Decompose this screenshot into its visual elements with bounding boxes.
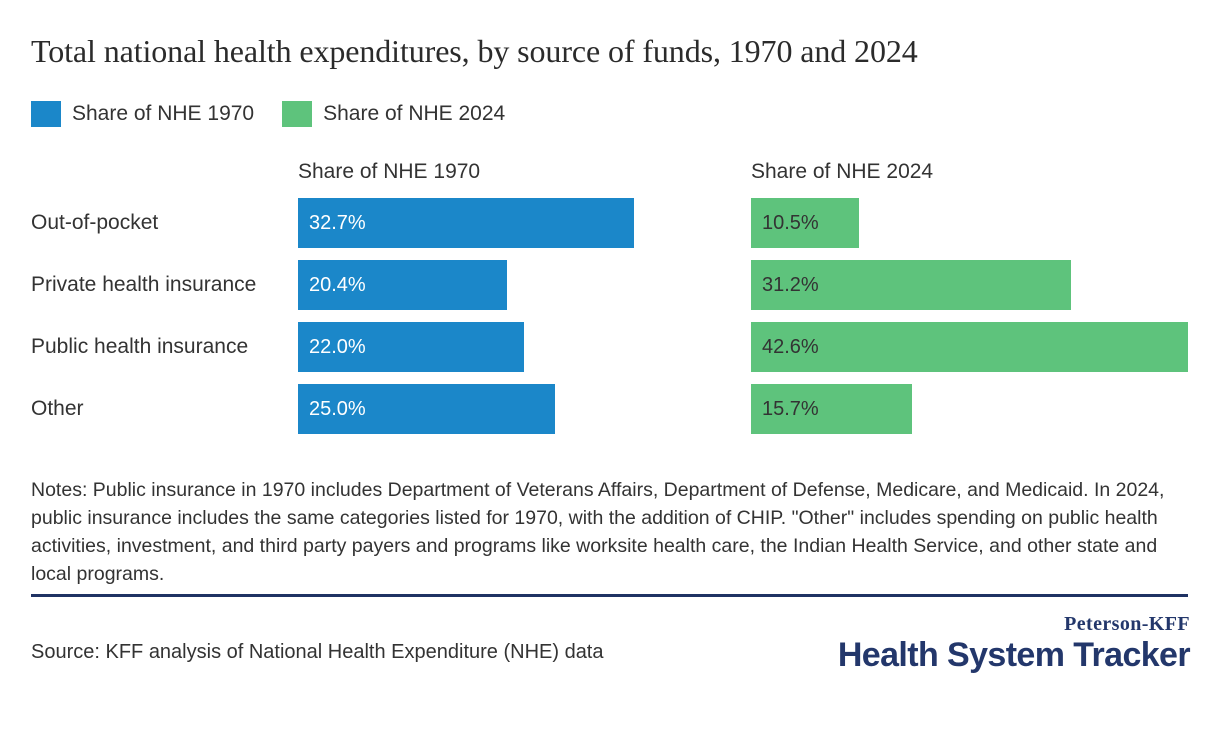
legend-item-2024[interactable]: Share of NHE 2024 xyxy=(282,101,505,127)
bar-2024[interactable]: 10.5% xyxy=(751,198,859,248)
column-header-2024: Share of NHE 2024 xyxy=(751,160,933,184)
row-label: Other xyxy=(0,397,268,421)
bar-value-1970: 22.0% xyxy=(298,336,366,359)
logo-peterson-kff: Peterson-KFF xyxy=(838,613,1190,635)
bar-2024[interactable]: 31.2% xyxy=(751,260,1071,310)
bar-1970[interactable]: 20.4% xyxy=(298,260,507,310)
page-title: Total national health expenditures, by s… xyxy=(31,33,1191,70)
row-label: Public health insurance xyxy=(0,335,268,359)
bar-value-2024: 31.2% xyxy=(751,274,819,297)
bar-rows: Out-of-pocket 32.7% 10.5% Private health… xyxy=(0,198,1220,446)
legend-swatch-1970 xyxy=(31,101,61,127)
bar-value-1970: 20.4% xyxy=(298,274,366,297)
row-label: Private health insurance xyxy=(0,273,268,297)
bar-value-1970: 32.7% xyxy=(298,212,366,235)
logo-health-system-tracker: Health System Tracker xyxy=(838,636,1190,674)
column-header-1970: Share of NHE 1970 xyxy=(298,160,480,184)
table-row: Private health insurance 20.4% 31.2% xyxy=(0,260,1220,310)
chart-source: Source: KFF analysis of National Health … xyxy=(31,641,604,664)
bar-1970[interactable]: 32.7% xyxy=(298,198,634,248)
legend-item-1970[interactable]: Share of NHE 1970 xyxy=(31,101,254,127)
table-row: Other 25.0% 15.7% xyxy=(0,384,1220,434)
bar-1970[interactable]: 25.0% xyxy=(298,384,555,434)
legend: Share of NHE 1970 Share of NHE 2024 xyxy=(31,101,533,127)
bar-value-1970: 25.0% xyxy=(298,398,366,421)
legend-label-1970: Share of NHE 1970 xyxy=(72,102,254,126)
legend-label-2024: Share of NHE 2024 xyxy=(323,102,505,126)
chart-page: Total national health expenditures, by s… xyxy=(0,0,1220,738)
footer-divider xyxy=(31,594,1188,597)
legend-swatch-2024 xyxy=(282,101,312,127)
row-label: Out-of-pocket xyxy=(0,211,268,235)
bar-1970[interactable]: 22.0% xyxy=(298,322,524,372)
chart-notes: Notes: Public insurance in 1970 includes… xyxy=(31,476,1191,588)
bar-2024[interactable]: 42.6% xyxy=(751,322,1188,372)
bar-value-2024: 15.7% xyxy=(751,398,819,421)
table-row: Public health insurance 22.0% 42.6% xyxy=(0,322,1220,372)
plot-area: Share of NHE 1970 Share of NHE 2024 Out-… xyxy=(0,155,1220,455)
bar-value-2024: 10.5% xyxy=(751,212,819,235)
logo: Peterson-KFF Health System Tracker xyxy=(838,613,1190,674)
bar-2024[interactable]: 15.7% xyxy=(751,384,912,434)
bar-value-2024: 42.6% xyxy=(751,336,819,359)
table-row: Out-of-pocket 32.7% 10.5% xyxy=(0,198,1220,248)
